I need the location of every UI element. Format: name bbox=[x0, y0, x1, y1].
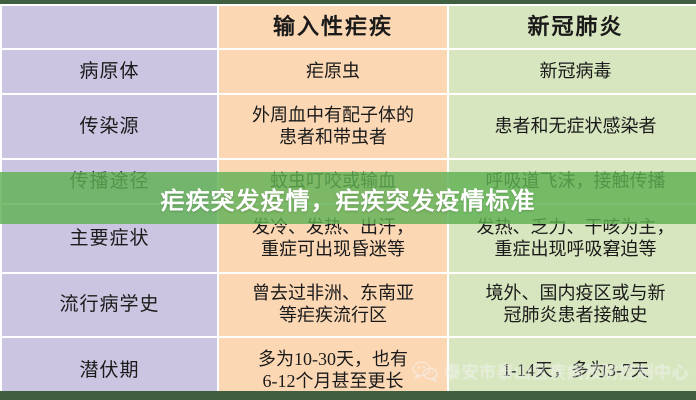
row-label-epidemiology: 流行病学史 bbox=[2, 274, 217, 336]
cell-line: 患者和无症状感染者 bbox=[453, 116, 696, 138]
cell-line: 曾去过非洲、东南亚 bbox=[223, 283, 443, 305]
header-cell-label bbox=[2, 6, 217, 48]
article-title-banner: 疟疾突发疫情，疟疾突发疫情标准 bbox=[0, 172, 696, 224]
cell-covid-source: 患者和无症状感染者 bbox=[449, 95, 696, 158]
watermark-text: 泰安市泰山区疾病预防控制中心 bbox=[444, 358, 689, 383]
row-label-source: 传染源 bbox=[2, 95, 217, 158]
cell-line: 境外、国内疫区或与新 bbox=[453, 283, 696, 305]
cell-covid-epidemiology: 境外、国内疫区或与新 冠肺炎患者接触史 bbox=[449, 274, 696, 336]
row-label-pathogen: 病原体 bbox=[2, 50, 217, 93]
table-header-row: 输入性疟疾 新冠肺炎 bbox=[2, 6, 696, 48]
cell-line: 患者和带虫者 bbox=[223, 127, 443, 149]
cell-line: 重症可出现昏迷等 bbox=[223, 239, 443, 261]
cell-line: 等疟疾流行区 bbox=[223, 305, 443, 327]
table-row: 病原体 疟原虫 新冠病毒 bbox=[2, 50, 696, 93]
top-edge-strip bbox=[0, 0, 696, 4]
cell-malaria-epidemiology: 曾去过非洲、东南亚 等疟疾流行区 bbox=[219, 274, 447, 336]
cell-line: 6-12个月甚至更长 bbox=[223, 371, 443, 393]
cell-malaria-pathogen: 疟原虫 bbox=[219, 50, 447, 93]
cell-line: 多为10-30天，也有 bbox=[223, 349, 443, 371]
cell-line: 疟原虫 bbox=[223, 61, 443, 83]
bottom-edge-strip bbox=[0, 391, 696, 400]
table-row: 流行病学史 曾去过非洲、东南亚 等疟疾流行区 境外、国内疫区或与新 冠肺炎患者接… bbox=[2, 274, 696, 336]
table-row: 传染源 外周血中有配子体的 患者和带虫者 患者和无症状感染者 bbox=[2, 95, 696, 158]
header-cell-covid: 新冠肺炎 bbox=[449, 6, 696, 48]
cell-line: 重症出现呼吸窘迫等 bbox=[453, 239, 696, 261]
cell-malaria-source: 外周血中有配子体的 患者和带虫者 bbox=[219, 95, 447, 158]
article-title: 疟疾突发疫情，疟疾突发疫情标准 bbox=[161, 181, 536, 216]
header-cell-malaria: 输入性疟疾 bbox=[219, 6, 447, 48]
wechat-icon bbox=[412, 360, 438, 382]
screenshot-stage: 输入性疟疾 新冠肺炎 病原体 疟原虫 新冠病毒 传染源 外周血中有配子体的 bbox=[0, 0, 696, 400]
cell-line: 冠肺炎患者接触史 bbox=[453, 305, 696, 327]
cell-line: 外周血中有配子体的 bbox=[223, 105, 443, 127]
cell-line: 新冠病毒 bbox=[453, 61, 696, 83]
watermark: 泰安市泰山区疾病预防控制中心 bbox=[412, 358, 689, 383]
cell-covid-pathogen: 新冠病毒 bbox=[449, 50, 696, 93]
